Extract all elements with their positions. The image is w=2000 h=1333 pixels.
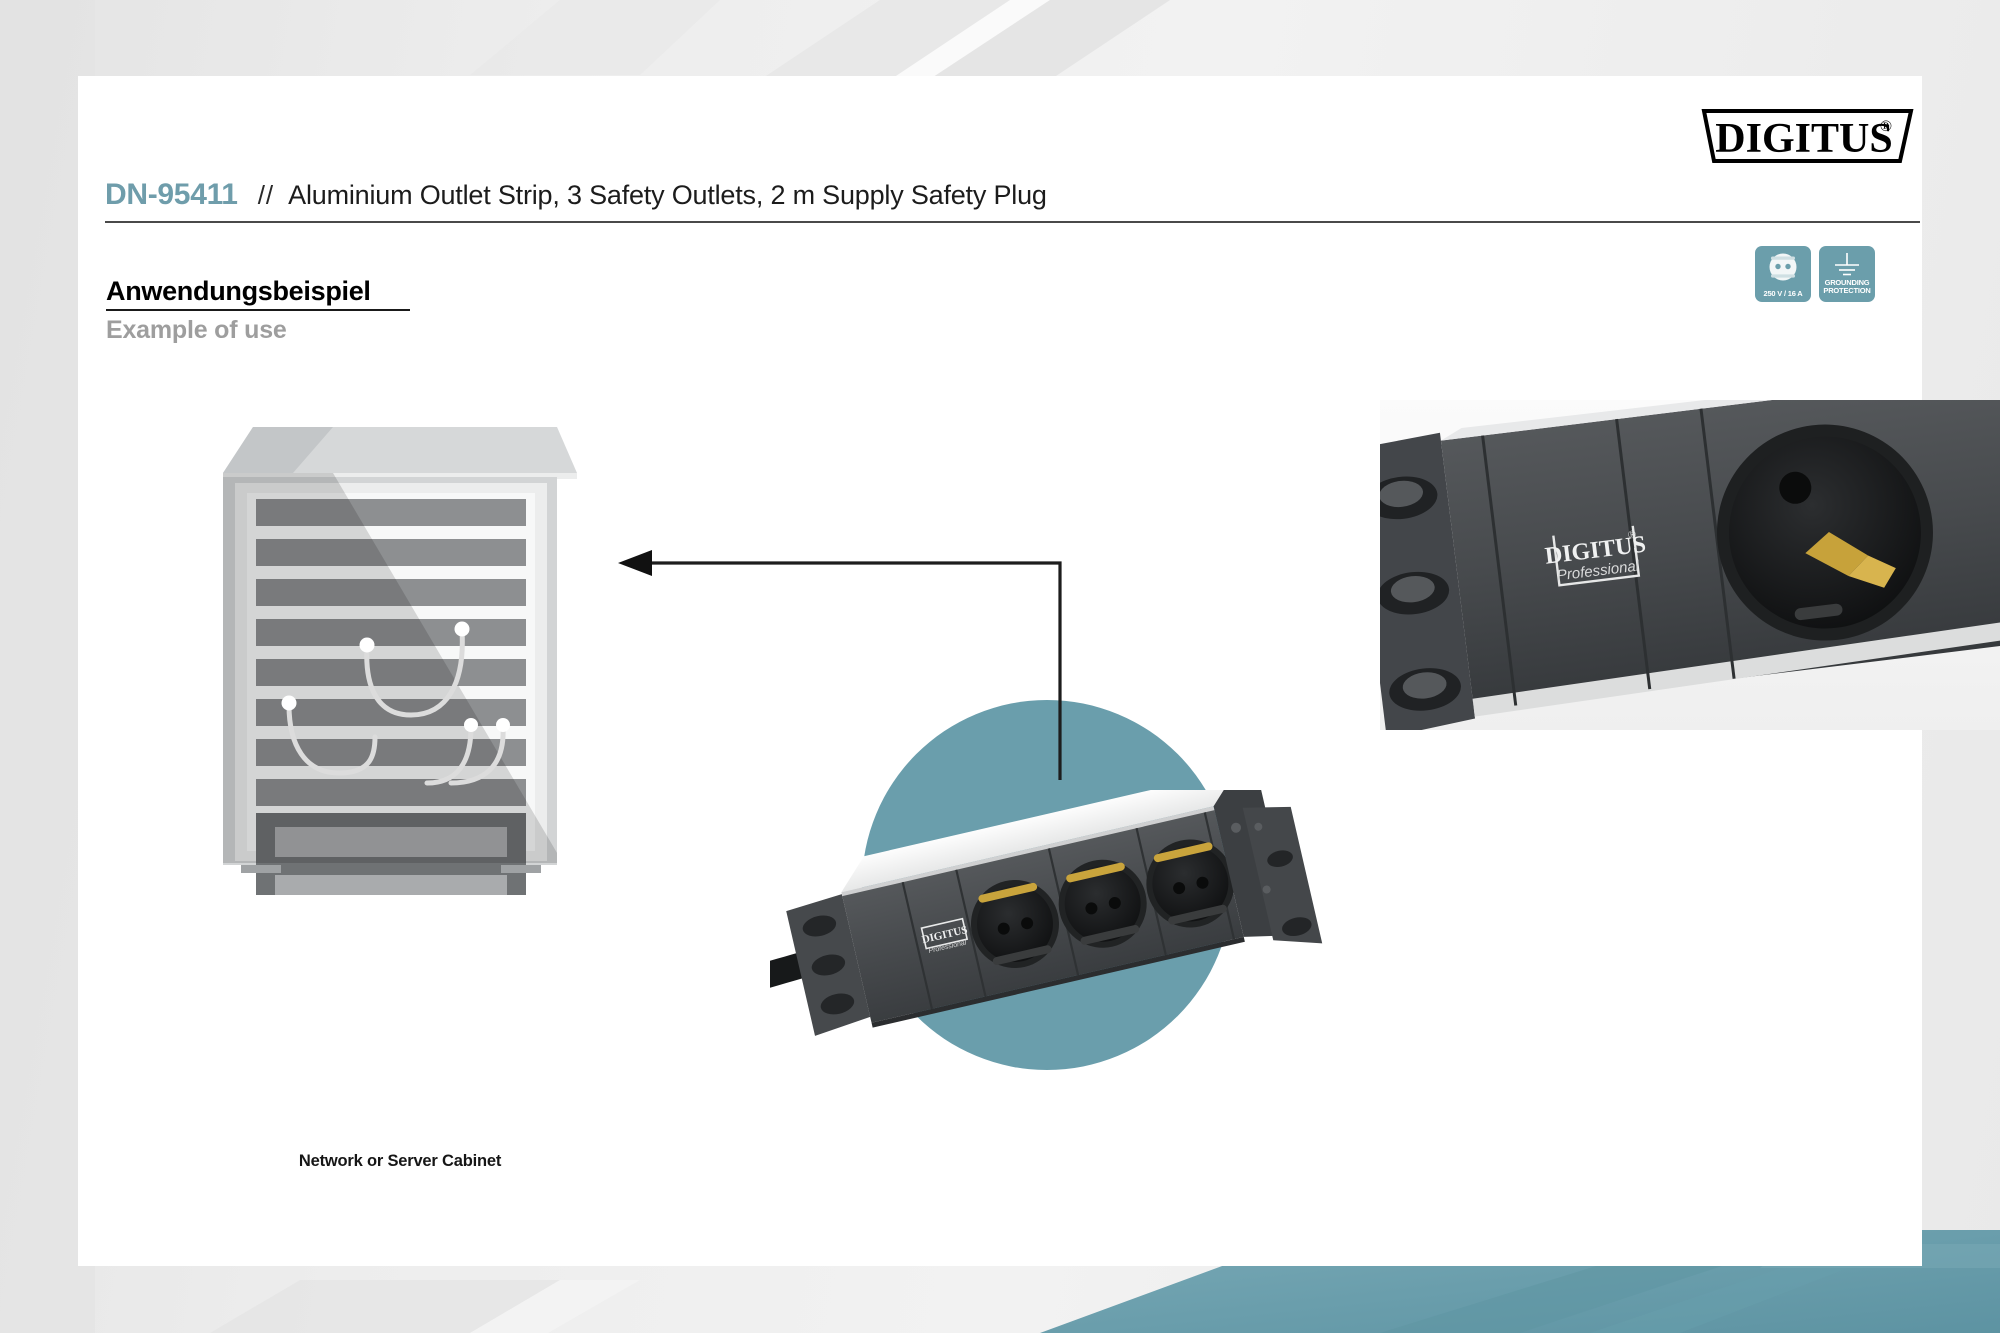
server-cabinet-illustration xyxy=(215,415,585,895)
feature-badges: 250 V / 16 A GROUNDING PROTECTION xyxy=(1755,246,1875,302)
callout-arrow xyxy=(600,520,1120,820)
title-separator: // xyxy=(258,180,274,211)
product-title-row: DN-95411 // Aluminium Outlet Strip, 3 Sa… xyxy=(105,178,1915,218)
badge-voltage-current: 250 V / 16 A xyxy=(1755,246,1811,302)
section-heading-underline xyxy=(106,309,410,311)
outlet-strip-closeup-photo: DIGITUS ® Professional xyxy=(1380,400,2000,730)
section-heading-de: Anwendungsbeispiel xyxy=(106,276,371,307)
badge-grounding: GROUNDING PROTECTION xyxy=(1819,246,1875,302)
product-title: Aluminium Outlet Strip, 3 Safety Outlets… xyxy=(288,180,1047,211)
badge-grounding-line2: PROTECTION xyxy=(1823,286,1870,295)
schuko-outlet-icon xyxy=(1755,246,1811,286)
cabinet-caption: Network or Server Cabinet xyxy=(215,1152,585,1171)
badge-grounding-label: GROUNDING PROTECTION xyxy=(1819,279,1875,295)
title-divider xyxy=(105,221,1920,223)
brand-registered-closeup: ® xyxy=(1627,529,1637,542)
outlet-strip-front-photo: DIGITUS Professional xyxy=(770,790,1370,1080)
logo-registered-mark: ® xyxy=(1880,118,1892,135)
badge-voltage-label: 250 V / 16 A xyxy=(1755,290,1811,298)
digitus-logo: DIGITUS ® xyxy=(1700,105,1915,167)
datasheet-page: DIGITUS ® DN-95411 // Aluminium Outlet S… xyxy=(0,0,2000,1333)
product-sku: DN-95411 xyxy=(105,178,238,212)
logo-wordmark: DIGITUS xyxy=(1715,116,1892,162)
section-heading-en: Example of use xyxy=(106,316,287,345)
